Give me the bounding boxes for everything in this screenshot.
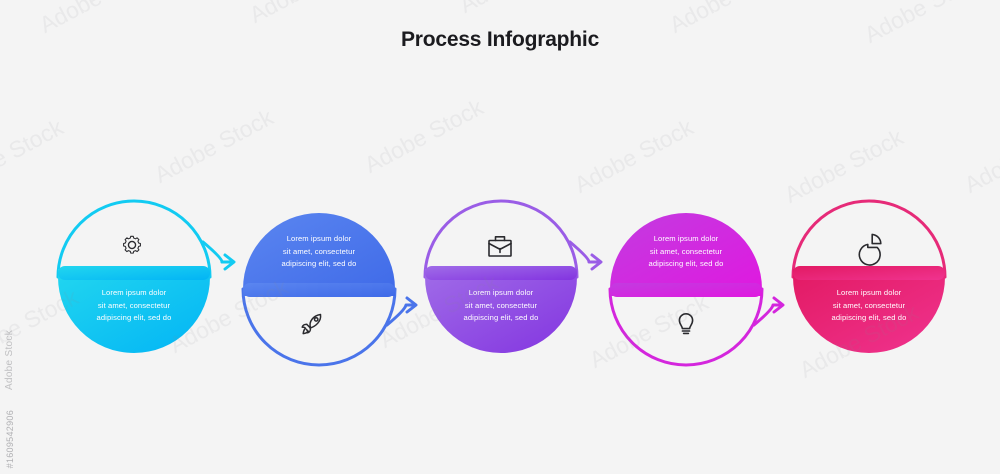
process-infographic-graphic [0, 0, 1000, 474]
step-2-arc-outline [243, 289, 395, 365]
step-1-filled-half [58, 269, 210, 353]
step-1-arc-outline [58, 201, 210, 277]
pie-chart-icon [859, 234, 880, 265]
step-2-half-cap [243, 283, 395, 297]
step-1-half-cap [58, 266, 210, 280]
step-4-half-cap [610, 283, 762, 297]
step-3-group [425, 201, 577, 353]
step-2-group [243, 213, 395, 365]
step-3-arc-outline [425, 201, 577, 277]
lightbulb-icon [679, 314, 692, 334]
step-4-arc-outline [610, 289, 762, 365]
infographic-canvas: Process Infographic [0, 0, 1000, 474]
step-5-filled-half [793, 269, 945, 353]
step-1-group [58, 201, 210, 353]
step-5-half-cap [793, 266, 945, 280]
step-3-half-cap [425, 266, 577, 280]
step-3-filled-half [425, 269, 577, 353]
gear-icon [124, 236, 141, 253]
step-4-group [610, 213, 762, 365]
briefcase-icon [489, 237, 511, 256]
rocket-icon [302, 315, 320, 334]
step-5-group [793, 201, 945, 353]
